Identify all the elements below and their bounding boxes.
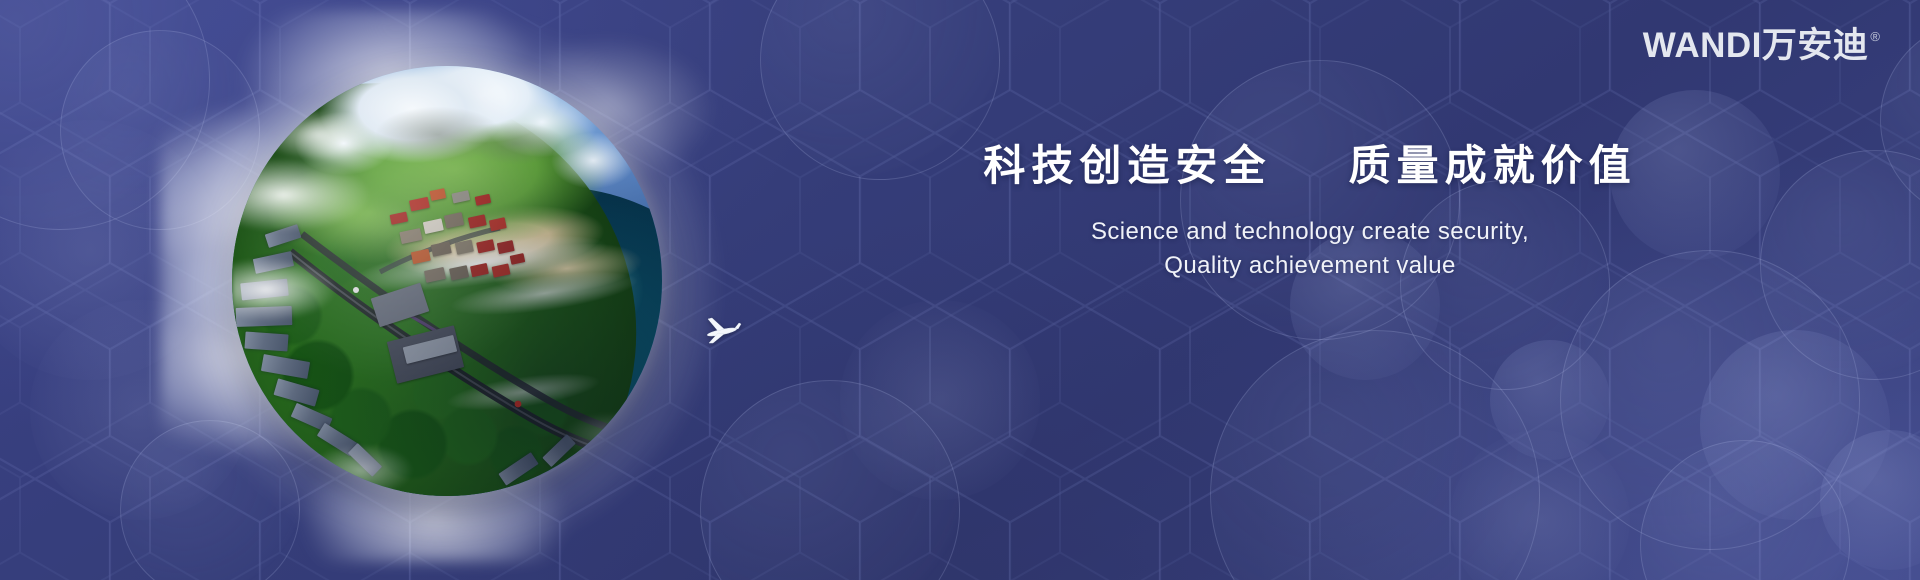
airplane-icon <box>698 312 744 346</box>
headline-part-1: 科技创造安全 <box>983 142 1271 189</box>
subtitle-line-2: Quality achievement value <box>960 249 1660 284</box>
globe-shading <box>232 66 662 496</box>
brand-logo-text: WANDI万安迪 <box>1643 28 1869 63</box>
page-subtitle: Science and technology create security, … <box>960 215 1660 285</box>
subtitle-line-1: Science and technology create security, <box>960 215 1660 250</box>
page-title: 科技创造安全 质量成就价值 <box>960 140 1660 193</box>
hero-copy-block: 科技创造安全 质量成就价值 Science and technology cre… <box>960 140 1660 284</box>
registered-trademark-icon: ® <box>1870 30 1880 43</box>
headline-part-2: 质量成就价值 <box>1349 142 1637 189</box>
hero-banner: WANDI万安迪 ® 科技创造安全 质量成就价值 Science and tec… <box>0 0 1920 580</box>
brand-logo[interactable]: WANDI万安迪 ® <box>1643 28 1880 63</box>
tiny-planet-globe <box>232 66 662 496</box>
globe-illustration <box>196 36 696 536</box>
